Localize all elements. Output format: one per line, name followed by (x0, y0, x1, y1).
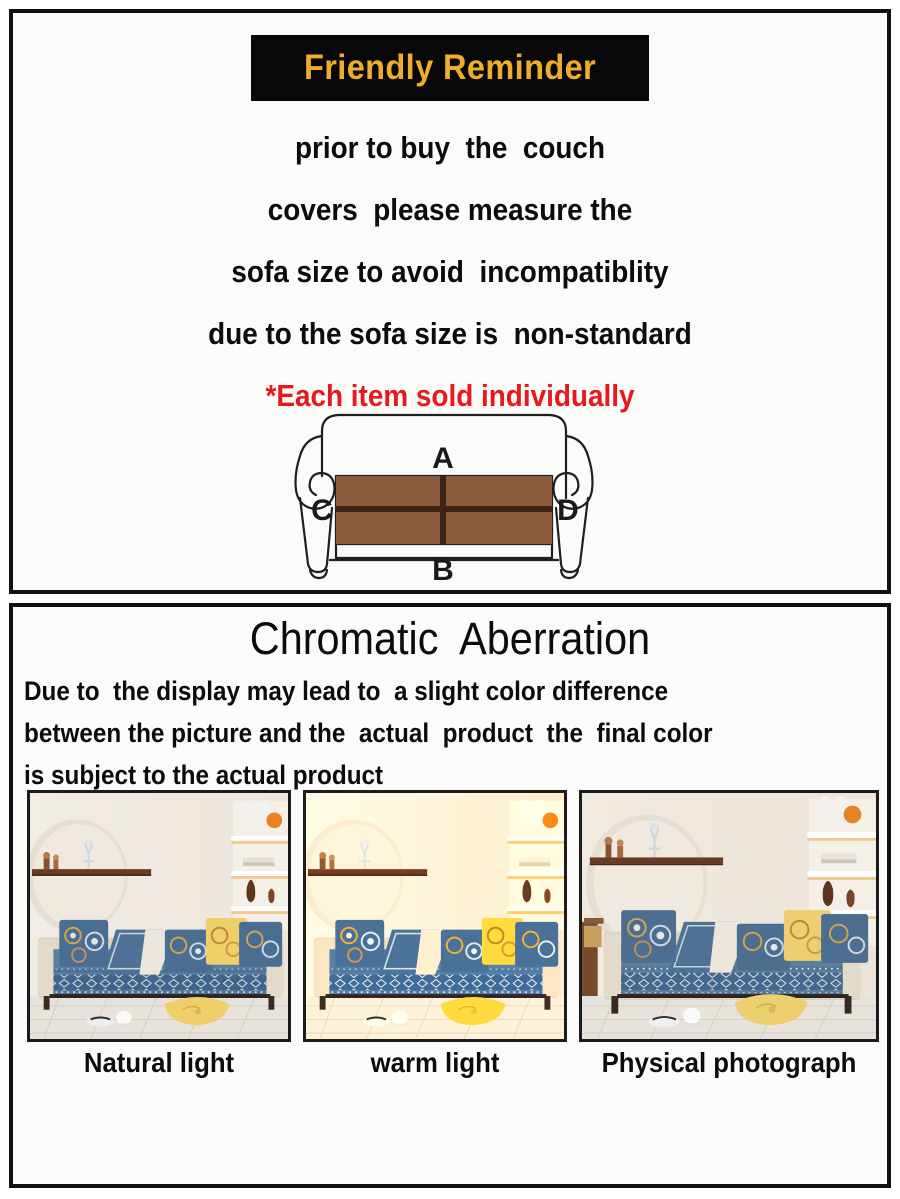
chromatic-aberration-panel: Chromatic Aberration Due to the display … (9, 603, 891, 1188)
photo-cell-physical-photograph: Physical photograph (579, 790, 879, 1079)
dimension-label-c: C (311, 494, 333, 527)
comparison-photo-row: Natural light (27, 790, 879, 1090)
friendly-reminder-banner-label: Friendly Reminder (304, 48, 596, 88)
product-photo-warm-light[interactable] (303, 790, 567, 1042)
dimension-label-d: D (557, 494, 579, 527)
photo-caption-natural-light: Natural light (38, 1047, 281, 1079)
photo-cell-warm-light: warm light (303, 790, 567, 1079)
reminder-line-1: prior to buy the couch (57, 117, 844, 179)
chromatic-line-1: Due to the display may lead to a slight … (24, 670, 798, 712)
friendly-reminder-banner: Friendly Reminder (251, 35, 649, 101)
reminder-line-2: covers please measure the (57, 179, 844, 241)
chromatic-line-2: between the picture and the actual produ… (24, 712, 798, 754)
photo-caption-physical-photograph: Physical photograph (591, 1047, 867, 1079)
reminder-line-3: sofa size to avoid incompatiblity (57, 241, 844, 303)
measure-line-horizontal (336, 506, 552, 512)
dimension-label-b: B (432, 554, 454, 583)
product-photo-natural-light[interactable] (27, 790, 291, 1042)
sofa-measurement-diagram: A B C D (250, 398, 650, 583)
photo-cell-natural-light: Natural light (27, 790, 291, 1079)
reminder-text-block: prior to buy the couch covers please mea… (13, 117, 887, 427)
product-photo-physical[interactable] (579, 790, 879, 1042)
friendly-reminder-panel: Friendly Reminder prior to buy the couch… (9, 9, 891, 594)
reminder-line-4: due to the sofa size is non-standard (57, 303, 844, 365)
dimension-label-a: A (432, 442, 454, 475)
chromatic-text-block: Due to the display may lead to a slight … (24, 670, 884, 796)
photo-caption-warm-light: warm light (314, 1047, 557, 1079)
chromatic-aberration-title: Chromatic Aberration (48, 613, 852, 665)
